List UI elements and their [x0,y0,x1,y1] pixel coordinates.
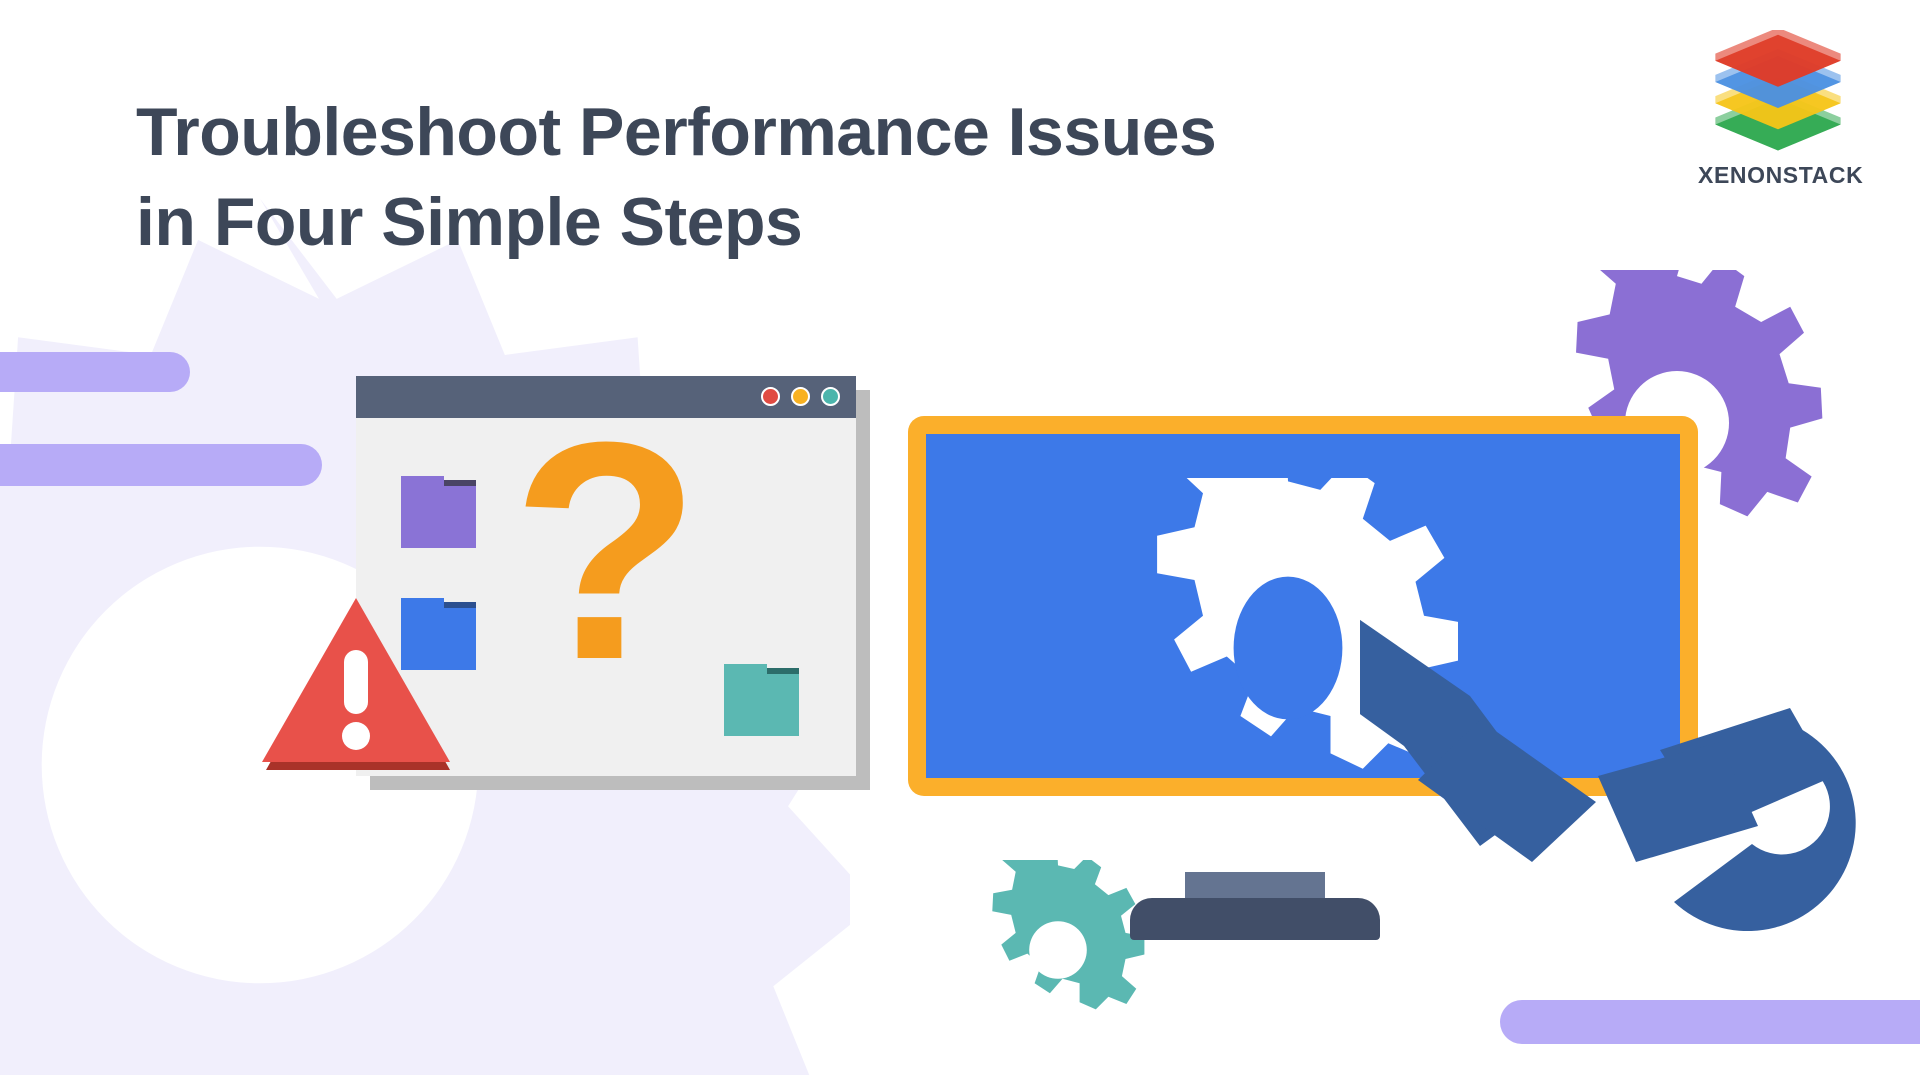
brand-logo: XENONSTACK [1698,30,1858,189]
accent-bar-top-left [0,352,190,392]
close-dot-icon [761,387,780,406]
page-title: Troubleshoot Performance Issues in Four … [136,88,1556,268]
folder-teal-icon [724,664,799,736]
maximize-dot-icon [821,387,840,406]
minimize-dot-icon [791,387,810,406]
banner-canvas: Troubleshoot Performance Issues in Four … [0,0,1920,1075]
monitor-stand-base [1130,898,1380,940]
wrench-icon [1360,600,1920,1000]
question-mark-icon: ? [506,416,706,686]
brand-wordmark: XENONSTACK [1698,162,1858,189]
warning-triangle-icon [258,588,458,788]
folder-purple-icon [401,476,476,548]
accent-bar-mid-left [0,444,322,486]
gear-teal-icon [968,860,1148,1040]
accent-bar-bottom-right [1500,1000,1920,1044]
stacked-layers-icon [1706,30,1850,160]
